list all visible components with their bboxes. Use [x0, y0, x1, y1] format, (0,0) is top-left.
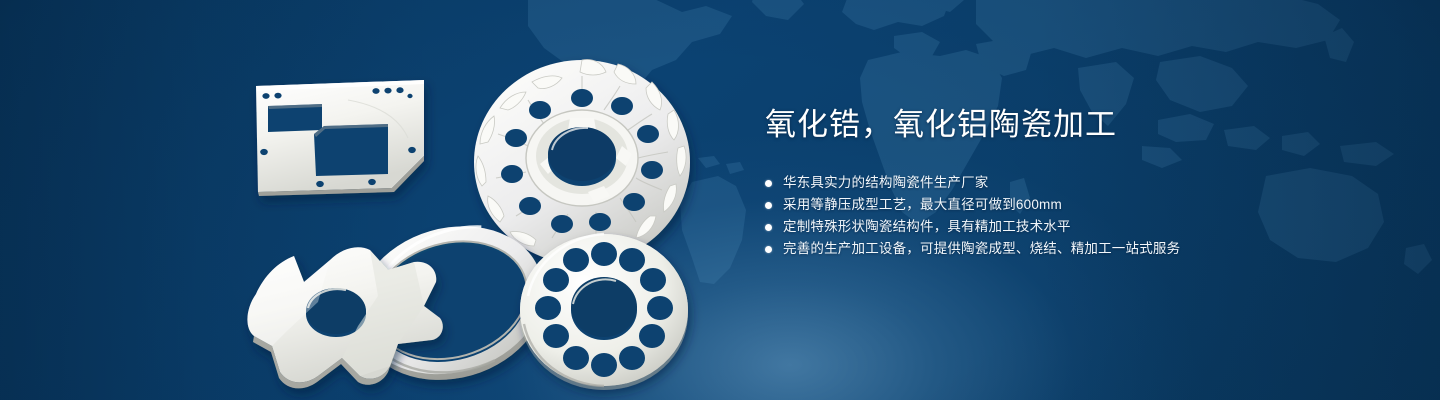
- bullet-text: 华东具实力的结构陶瓷件生产厂家: [783, 172, 989, 194]
- bullet-dot-icon: [765, 224, 772, 231]
- bullet-dot-icon: [765, 180, 772, 187]
- bullet-text: 完善的生产加工设备，可提供陶瓷成型、烧结、精加工一站式服务: [783, 238, 1180, 260]
- list-item: 华东具实力的结构陶瓷件生产厂家: [765, 172, 1385, 194]
- hero-banner: 氧化锆，氧化铝陶瓷加工 华东具实力的结构陶瓷件生产厂家 采用等静压成型工艺，最大…: [0, 0, 1440, 400]
- bullet-text: 定制特殊形状陶瓷结构件，具有精加工技术水平: [783, 216, 1071, 238]
- ceramic-products-image: [232, 34, 712, 386]
- ceramic-disc-part: [520, 234, 688, 390]
- ceramic-plate-part: [256, 80, 424, 196]
- banner-title: 氧化锆，氧化铝陶瓷加工: [765, 104, 1385, 146]
- list-item: 采用等静压成型工艺，最大直径可做到600mm: [765, 194, 1385, 216]
- banner-text-block: 氧化锆，氧化铝陶瓷加工 华东具实力的结构陶瓷件生产厂家 采用等静压成型工艺，最大…: [765, 104, 1385, 260]
- list-item: 完善的生产加工设备，可提供陶瓷成型、烧结、精加工一站式服务: [765, 238, 1385, 260]
- list-item: 定制特殊形状陶瓷结构件，具有精加工技术水平: [765, 216, 1385, 238]
- bullet-text: 采用等静压成型工艺，最大直径可做到600mm: [783, 194, 1062, 216]
- ceramic-impeller-part: [474, 60, 690, 265]
- bullet-dot-icon: [765, 246, 772, 253]
- bullet-dot-icon: [765, 202, 772, 209]
- feature-bullet-list: 华东具实力的结构陶瓷件生产厂家 采用等静压成型工艺，最大直径可做到600mm 定…: [765, 172, 1385, 260]
